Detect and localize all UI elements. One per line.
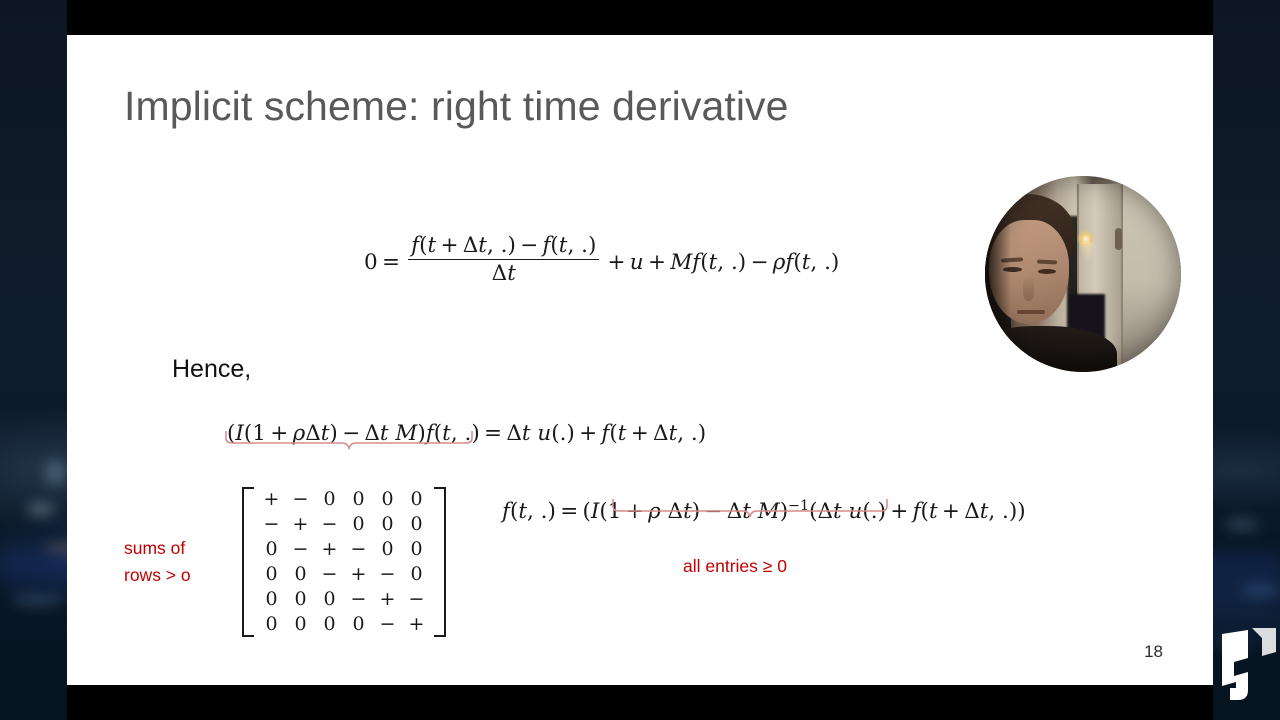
- matrix-cell: 0: [344, 512, 373, 537]
- matrix-row: 0−+−00: [257, 537, 431, 562]
- matrix-cell: 0: [315, 587, 344, 612]
- matrix-bracket-right: [434, 487, 446, 637]
- sign-pattern-matrix: +−0000−+−0000−+−0000−+−0000−+−0000−+: [242, 487, 446, 637]
- webcam-vignette: [985, 176, 1181, 372]
- matrix-cell: −: [257, 512, 286, 537]
- corner-logo-watermark: [1218, 628, 1276, 702]
- underbrace-all-entries: [611, 497, 889, 523]
- annotation-sums-of-rows: sums of rows > o: [124, 535, 191, 589]
- matrix-row: 0000−+: [257, 612, 431, 637]
- matrix-row: −+−000: [257, 512, 431, 537]
- letterbox-bar-top: [67, 0, 1213, 35]
- matrix-cell: 0: [344, 612, 373, 637]
- matrix-cell: −: [344, 587, 373, 612]
- matrix-cell: 0: [257, 562, 286, 587]
- matrix-cell: 0: [373, 487, 402, 512]
- matrix-cell: 0: [373, 537, 402, 562]
- matrix-cell: 0: [257, 537, 286, 562]
- matrix-grid: +−0000−+−0000−+−0000−+−0000−+−0000−+: [257, 487, 431, 637]
- annotation-sums-line-1: sums of: [124, 535, 191, 562]
- equation-balance: 0=f(t+Δt, .)−f(t, .)Δt+u+Mf(t, .)−ρf(t, …: [364, 233, 839, 286]
- matrix-cell: 0: [315, 612, 344, 637]
- matrix-cell: 0: [286, 612, 315, 637]
- presenter-video-bubble[interactable]: [985, 176, 1181, 372]
- matrix-cell: −: [373, 562, 402, 587]
- matrix-row: +−0000: [257, 487, 431, 512]
- matrix-cell: +: [257, 487, 286, 512]
- matrix-cell: +: [402, 612, 431, 637]
- matrix-cell: 0: [402, 537, 431, 562]
- matrix-cell: 0: [402, 562, 431, 587]
- slide-page-number: 18: [1144, 642, 1163, 662]
- matrix-cell: 0: [286, 562, 315, 587]
- matrix-cell: +: [373, 587, 402, 612]
- matrix-cell: 0: [373, 512, 402, 537]
- letterbox-bar-bottom: [67, 685, 1213, 720]
- matrix-cell: −: [286, 537, 315, 562]
- matrix-cell: 0: [315, 487, 344, 512]
- city-light-glow: [10, 596, 65, 604]
- matrix-cell: −: [286, 487, 315, 512]
- matrix-cell: 0: [344, 487, 373, 512]
- matrix-cell: −: [315, 562, 344, 587]
- matrix-cell: 0: [286, 587, 315, 612]
- city-light-glow: [1225, 520, 1259, 529]
- matrix-cell: −: [344, 537, 373, 562]
- matrix-cell: 0: [257, 587, 286, 612]
- matrix-row: 00−+−0: [257, 562, 431, 587]
- hence-label: Hence,: [172, 355, 251, 384]
- matrix-cell: +: [315, 537, 344, 562]
- matrix-cell: 0: [402, 512, 431, 537]
- matrix-row: 000−+−: [257, 587, 431, 612]
- underbrace-sums-of-rows: [224, 429, 474, 455]
- matrix-cell: −: [315, 512, 344, 537]
- matrix-cell: 0: [402, 487, 431, 512]
- matrix-cell: −: [373, 612, 402, 637]
- annotation-all-entries: all entries ≥ 0: [683, 556, 787, 577]
- city-light-glow: [28, 505, 54, 514]
- matrix-cell: −: [402, 587, 431, 612]
- city-light-glow: [46, 460, 64, 486]
- matrix-cell: +: [344, 562, 373, 587]
- matrix-bracket-left: [242, 487, 254, 637]
- page-title: Implicit scheme: right time derivative: [124, 83, 789, 130]
- annotation-sums-line-2: rows > o: [124, 562, 191, 589]
- matrix-cell: 0: [257, 612, 286, 637]
- matrix-cell: +: [286, 512, 315, 537]
